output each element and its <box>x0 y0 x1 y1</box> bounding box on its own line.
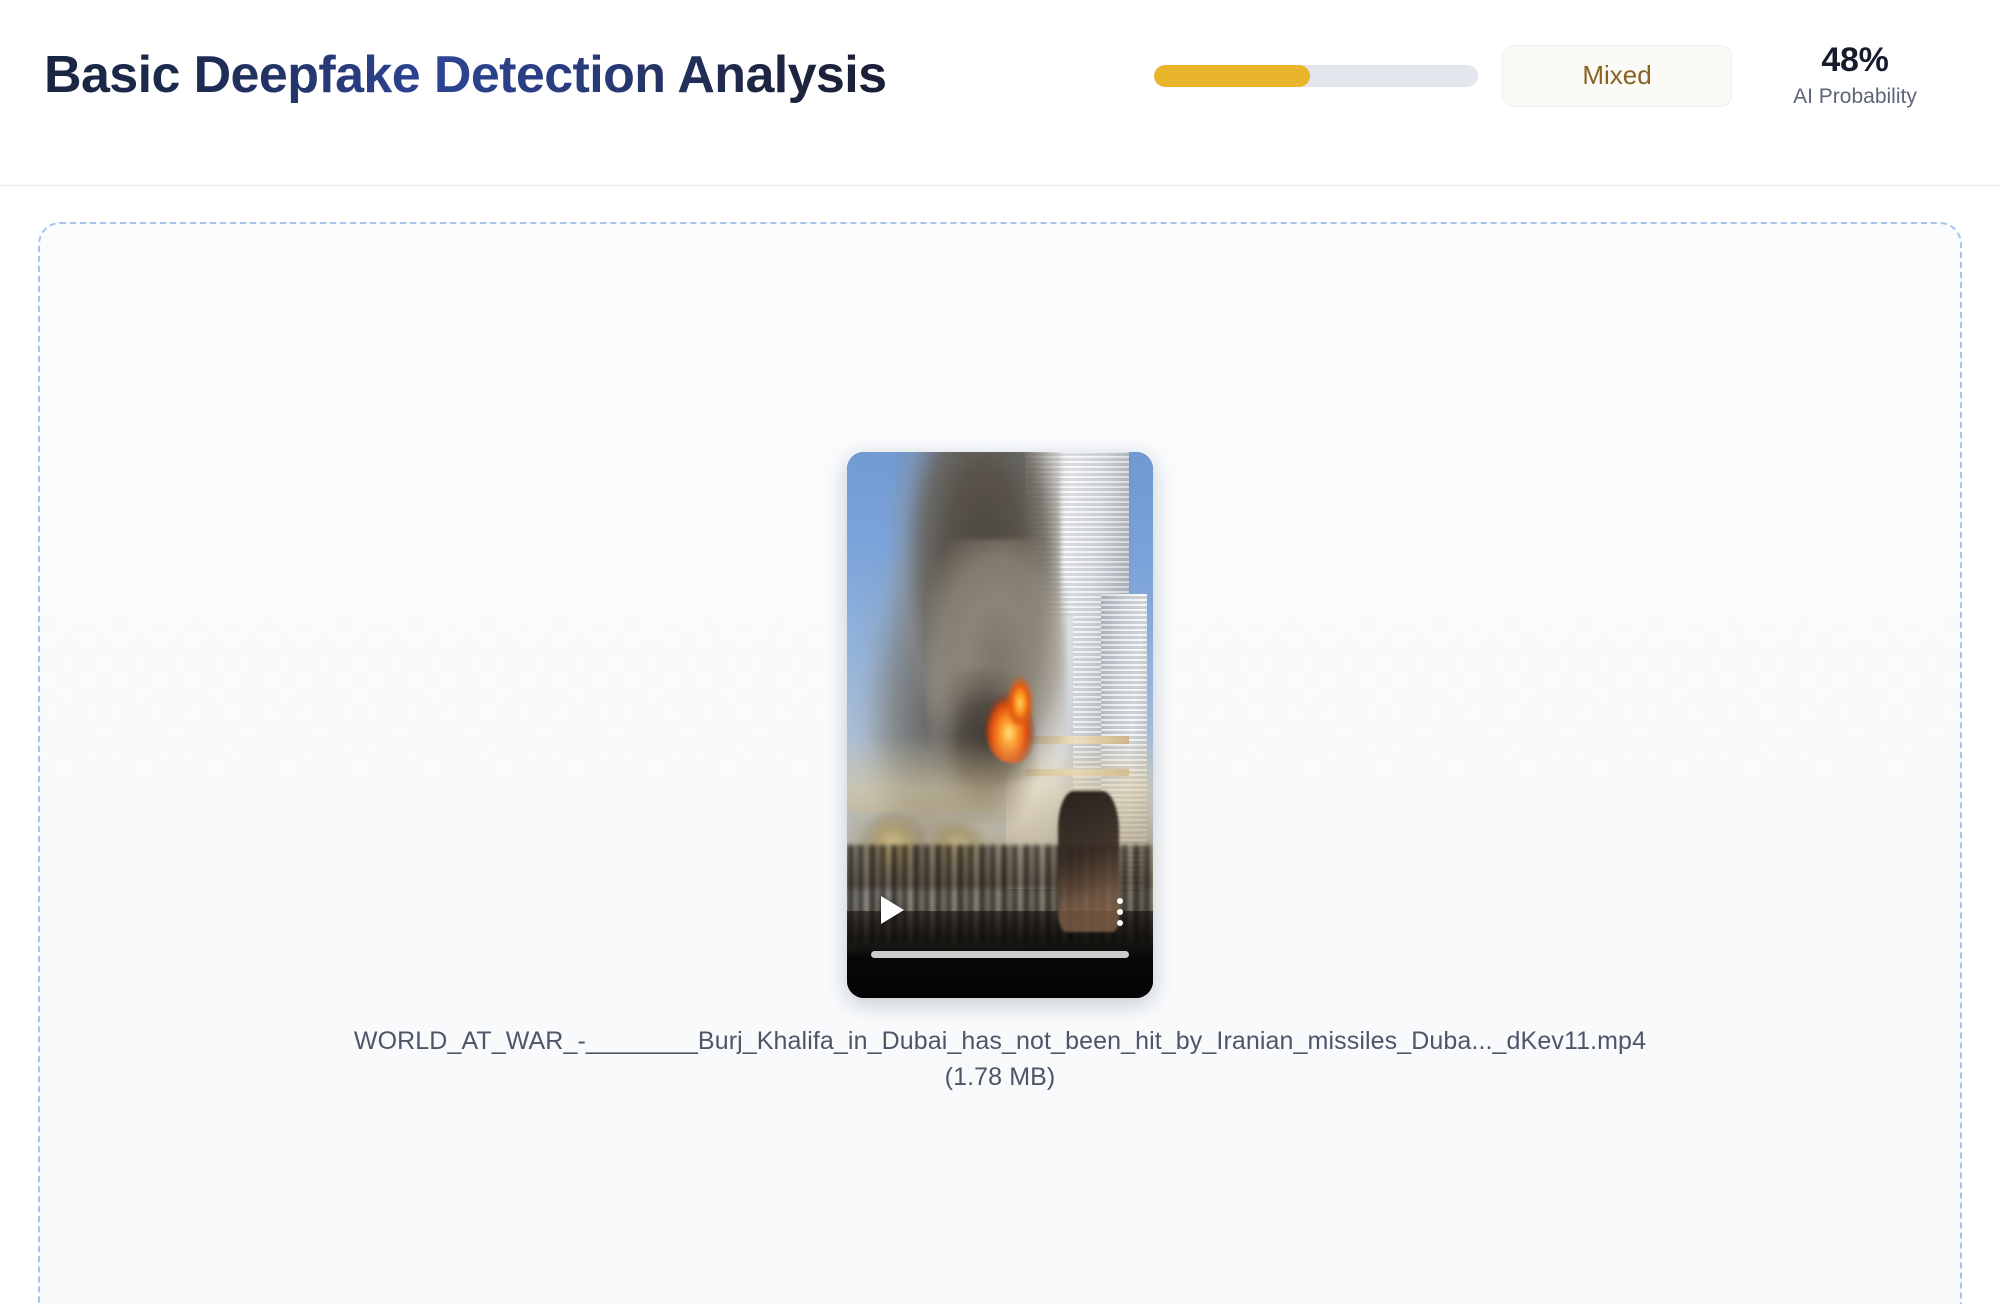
page-title: Basic Deepfake Detection Analysis <box>44 47 886 104</box>
progress-fill <box>1154 65 1310 87</box>
fire-flame-secondary <box>1006 676 1034 725</box>
probability-label: AI Probability <box>1784 85 1926 109</box>
play-icon[interactable] <box>881 896 904 924</box>
analysis-header: Basic Deepfake Detection Analysis Mixed … <box>0 0 2000 186</box>
kebab-dot <box>1117 909 1123 915</box>
probability-value: 48% <box>1784 42 1926 79</box>
hand-holding-phone <box>1058 791 1119 933</box>
file-dropzone[interactable]: WORLD_AT_WAR_-________Burj_Khalifa_in_Du… <box>38 222 1962 1304</box>
progress-track <box>1154 65 1478 87</box>
ai-probability-progress <box>1154 65 1478 87</box>
video-scrubber[interactable] <box>871 951 1129 958</box>
probability-block: 48% AI Probability <box>1784 42 1944 109</box>
kebab-menu-icon[interactable] <box>1117 898 1123 926</box>
kebab-dot <box>1117 920 1123 926</box>
verdict-badge: Mixed <box>1502 45 1732 107</box>
kebab-dot <box>1117 898 1123 904</box>
header-status-group: Mixed 48% AI Probability <box>1154 42 1956 109</box>
main-content: WORLD_AT_WAR_-________Burj_Khalifa_in_Du… <box>0 186 2000 1304</box>
video-preview-card[interactable] <box>847 452 1153 998</box>
file-name-caption: WORLD_AT_WAR_-________Burj_Khalifa_in_Du… <box>325 1024 1675 1095</box>
header-inner: Basic Deepfake Detection Analysis Mixed … <box>0 0 2000 109</box>
